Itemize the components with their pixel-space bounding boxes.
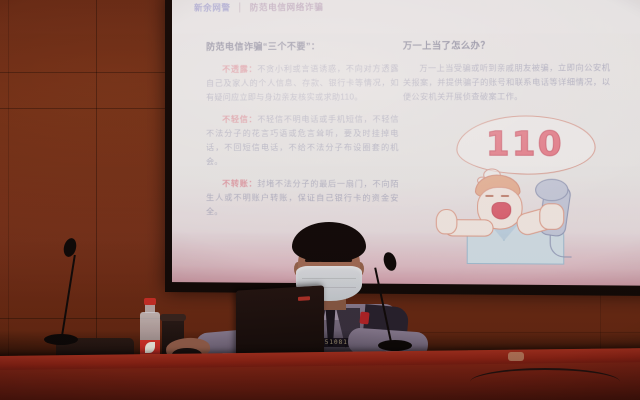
bottle-label-leaf-icon — [145, 342, 155, 353]
slide-point-term: 不转账 — [222, 179, 248, 188]
microphone-right — [378, 252, 438, 362]
cartoon-eye — [501, 195, 509, 197]
slide-point: 不转账：封堵不法分子的最后一扇门，不向陌生人或不明账户转账，保证自己银行卡的资金… — [206, 177, 399, 219]
slide-right-body: 万一上当受骗或听到亲戚朋友被骗，立即向公安机关报案，并提供骗子的账号和联系电话等… — [403, 61, 610, 104]
microphone-left — [40, 238, 100, 358]
wall-panel-seam — [8, 0, 9, 360]
cartoon-person-icon — [461, 175, 596, 259]
slide-brand-divider — [240, 2, 241, 12]
slide-left-column: 防范电信诈骗“三个不要”： 不透露：不贪小利或言语诱惑，不向对方透露自己及家人的… — [206, 39, 399, 229]
slide-brand: 新余网警 — [194, 1, 231, 13]
projection-screen: 新余网警 防范电信网络诈骗 防范电信诈骗“三个不要”： 不透露：不贪小利或言语诱… — [172, 0, 640, 286]
microphone-gooseneck — [61, 255, 76, 336]
slide-point-term: 不轻信 — [222, 115, 248, 124]
slide-header: 新余网警 防范电信网络诈骗 — [194, 1, 323, 14]
slide-point: 不透露：不贪小利或言语诱惑，不向对方透露自己及家人的个人信息、存款、银行卡等情况… — [206, 62, 399, 104]
slide-right-column: 万一上当了怎么办？ 万一上当受骗或听到亲戚朋友被骗，立即向公安机关报案，并提供骗… — [403, 38, 610, 113]
slide-point-term: 不透露 — [222, 65, 248, 74]
microphone-base — [378, 340, 412, 351]
phone-earpiece-icon — [535, 179, 568, 202]
bottle-cap — [144, 298, 156, 305]
slide-point-sep: ： — [248, 65, 257, 74]
emergency-number-text: 110 — [456, 124, 593, 164]
desk-small-object — [508, 352, 524, 361]
cartoon-hand — [539, 203, 564, 230]
bottle-neck — [145, 304, 155, 313]
wall-panel-seam — [0, 108, 170, 109]
slide-cartoon: 110 — [438, 115, 617, 258]
water-bottle — [140, 298, 160, 360]
slide-point-sep: ： — [248, 115, 257, 124]
slide-left-heading: 防范电信诈骗“三个不要”： — [206, 39, 399, 53]
screenshot-root: 新余网警 防范电信网络诈骗 防范电信诈骗“三个不要”： 不透露：不贪小利或言语诱… — [0, 0, 640, 400]
cartoon-mouth — [492, 202, 512, 219]
slide-subtitle: 防范电信网络诈骗 — [250, 1, 324, 14]
slide-point-sep: ： — [248, 179, 257, 188]
laptop-logo-icon — [298, 296, 310, 301]
cup-lid — [160, 314, 186, 321]
slide-point: 不轻信：不轻信不明电话或手机短信，不轻信不法分子的花言巧语或危言耸听，要及时挂掉… — [206, 113, 399, 169]
wall-panel-seam — [0, 72, 170, 73]
officer-hair — [292, 222, 366, 262]
thumbs-up-icon — [436, 209, 458, 234]
bottle-body — [140, 312, 160, 360]
collar-pin-icon — [359, 312, 369, 325]
slide-right-heading: 万一上当了怎么办？ — [403, 38, 610, 52]
mask-pleat — [302, 278, 356, 279]
cartoon-eye — [485, 195, 493, 197]
microphone-head-icon — [382, 251, 399, 273]
microphone-base — [44, 334, 78, 345]
